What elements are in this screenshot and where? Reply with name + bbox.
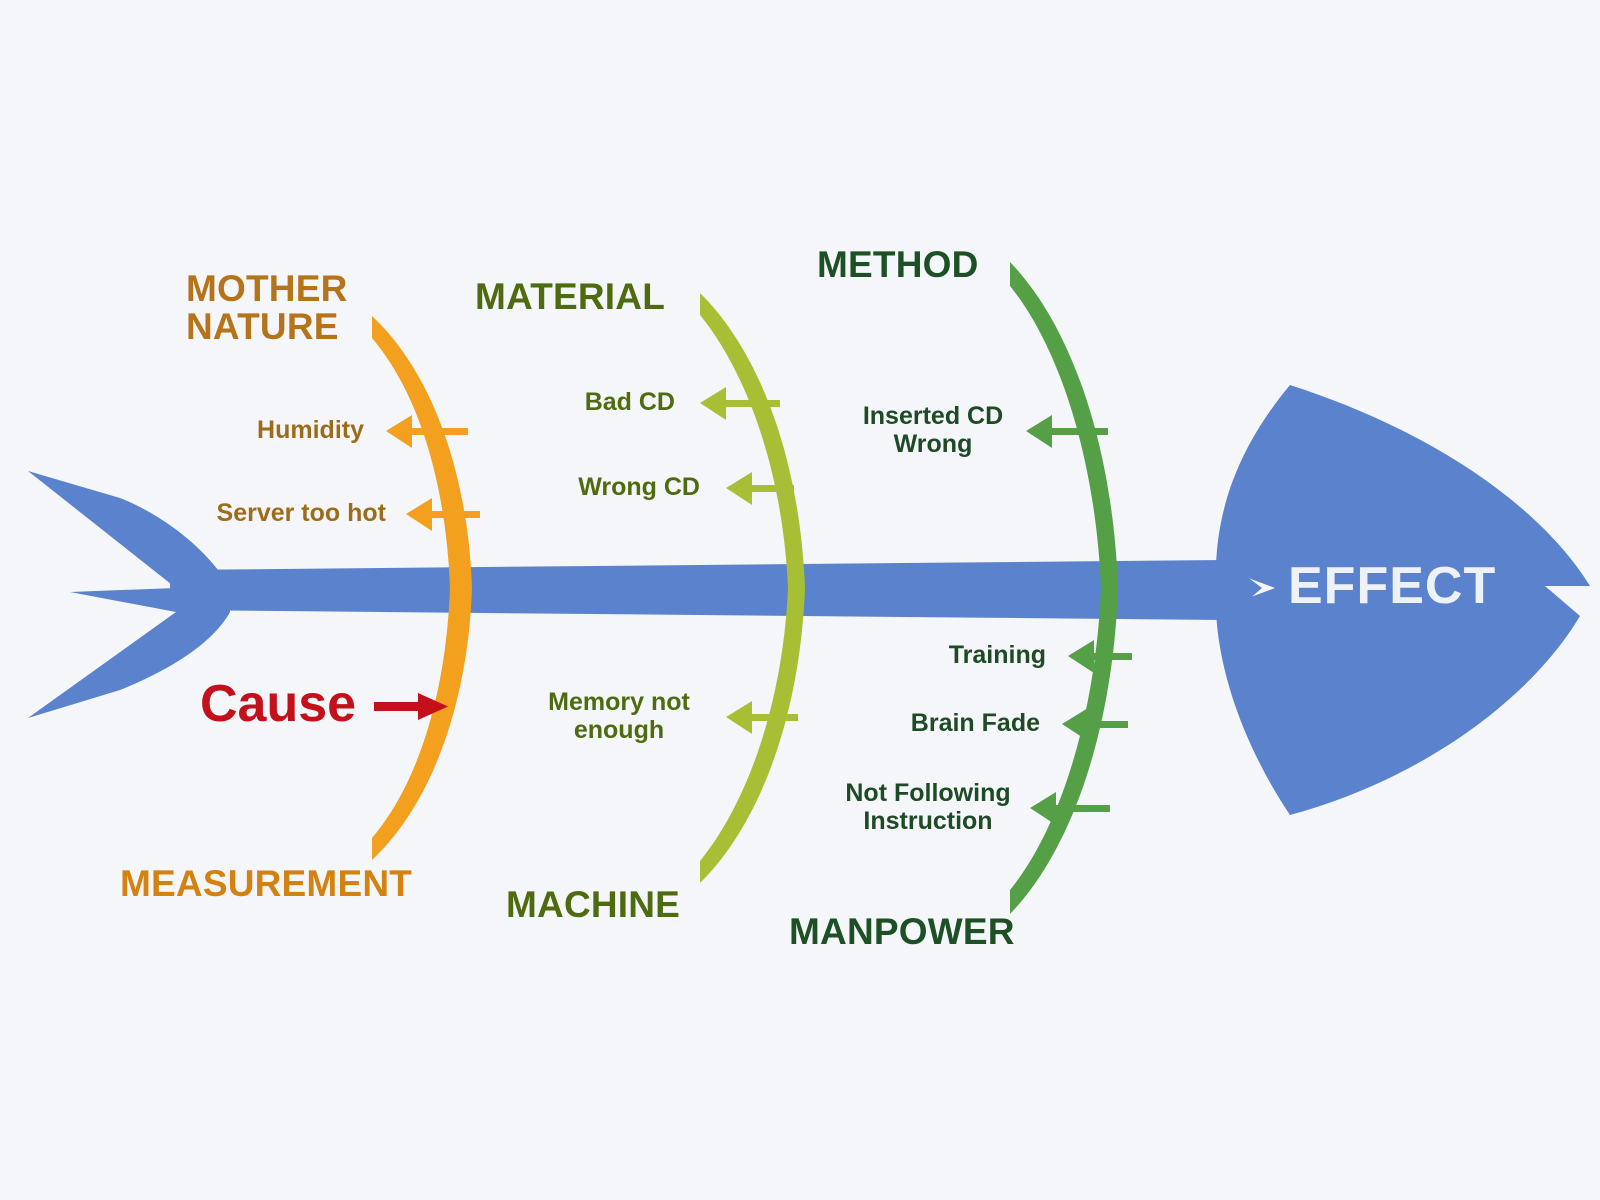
cause-text-humidity: Humidity (120, 416, 364, 444)
category-label-method: METHOD (817, 246, 979, 284)
effect-label: EFFECT (1288, 556, 1496, 616)
cause-label: Cause (200, 674, 356, 734)
cause-text-server-too-hot: Server too hot (100, 499, 386, 527)
category-label-machine: MACHINE (506, 886, 680, 924)
fishbone-diagram-canvas: MOTHER NATURE MEASUREMENT MATERIAL MACHI… (0, 0, 1600, 1200)
cause-text-training: Training (880, 641, 1046, 669)
cause-text-inserted-cd-wrong: Inserted CD Wrong (838, 402, 1028, 458)
category-label-manpower: MANPOWER (789, 913, 1015, 951)
category-label-measurement: MEASUREMENT (120, 865, 412, 903)
cause-text-bad-cd: Bad CD (460, 388, 675, 416)
spine (170, 560, 1262, 620)
cause-text-wrong-cd: Wrong CD (460, 473, 700, 501)
cause-text-not-following-instruction: Not Following Instruction (828, 779, 1028, 835)
cause-text-memory-not-enough: Memory not enough (524, 688, 714, 744)
cause-text-brain-fade: Brain Fade (860, 709, 1040, 737)
category-label-mother-nature: MOTHER NATURE (186, 270, 348, 345)
category-label-material: MATERIAL (475, 278, 665, 316)
